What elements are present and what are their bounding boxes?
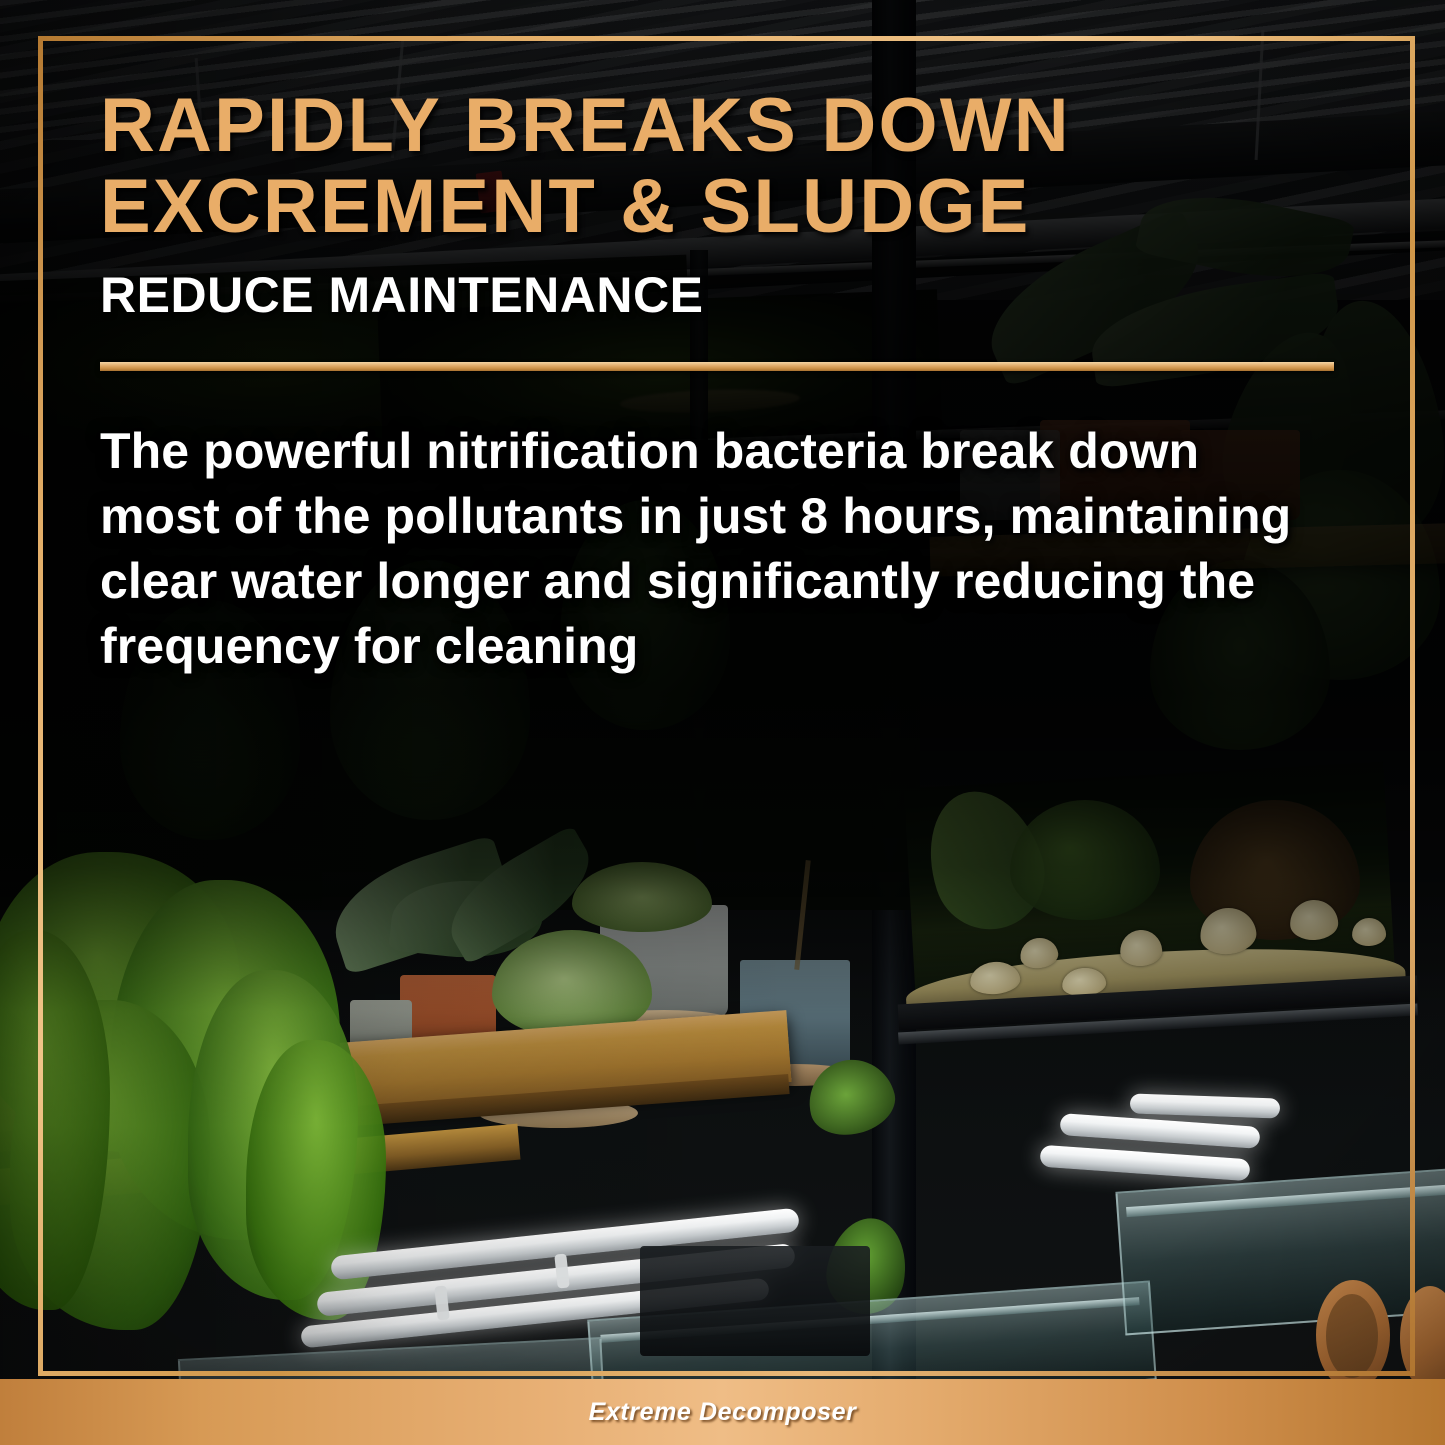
- body-description: The powerful nitrification bacteria brea…: [100, 419, 1330, 679]
- subheadline: REDUCE MAINTENANCE: [100, 266, 1350, 324]
- product-name-label: Extreme Decomposer: [589, 1398, 857, 1427]
- product-feature-poster: RAPIDLY BREAKS DOWN EXCREMENT & SLUDGE R…: [0, 0, 1445, 1445]
- footer-bar: Extreme Decomposer: [0, 1379, 1445, 1445]
- poster-text-block: RAPIDLY BREAKS DOWN EXCREMENT & SLUDGE R…: [100, 90, 1350, 679]
- headline-line-1: RAPIDLY BREAKS DOWN: [100, 90, 1350, 163]
- page-title: RAPIDLY BREAKS DOWN EXCREMENT & SLUDGE: [100, 90, 1350, 244]
- headline-line-2: EXCREMENT & SLUDGE: [100, 171, 1350, 244]
- gold-divider-rule: [100, 362, 1334, 371]
